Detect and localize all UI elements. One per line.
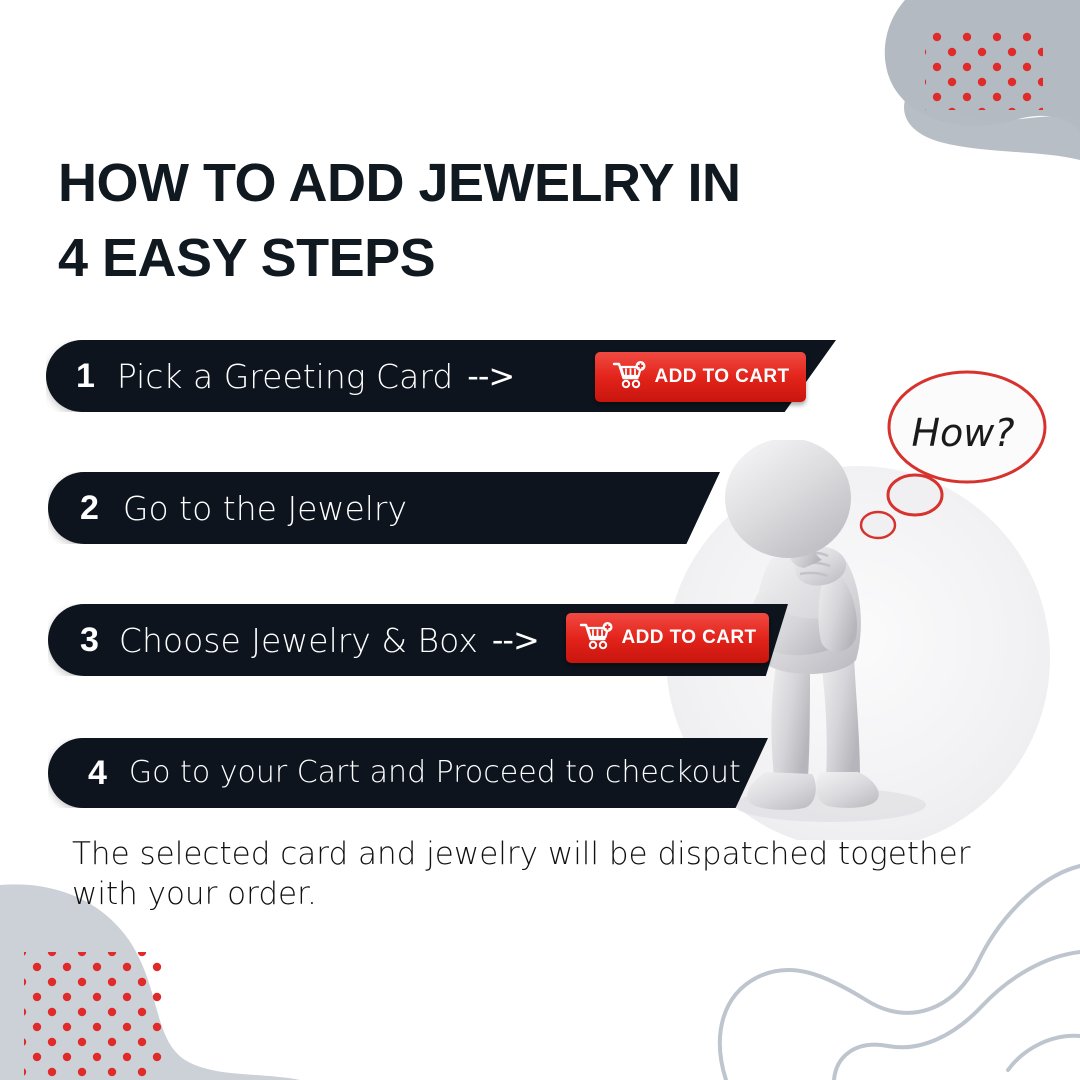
step-label-1: Pick a Greeting Card [117,360,453,393]
thought-bubble-text: How? [893,411,1033,455]
step-number-3: 3 [80,623,99,657]
add-to-cart-button-step-3[interactable]: ADD TO CART [566,613,769,663]
step-number-2: 2 [80,491,99,525]
add-to-cart-label-1: ADD TO CART [655,366,790,388]
page-title: HOW TO ADD JEWELRY IN 4 EASY STEPS [58,146,741,295]
shopping-cart-plus-icon [612,361,646,394]
step-arrow-1: --> [467,360,514,392]
add-to-cart-label-2: ADD TO CART [622,627,757,649]
step-item-4: 4 Go to your Cart and Proceed to checkou… [48,738,768,808]
shopping-cart-plus-icon [579,622,613,655]
step-item-2: 2 Go to the Jewelry [48,472,720,544]
title-line-1: HOW TO ADD JEWELRY IN [58,146,741,221]
step-label-4: Go to your Cart and Proceed to checkout [129,758,741,788]
add-to-cart-button-step-1[interactable]: ADD TO CART [595,352,806,402]
footer-note: The selected card and jewelry will be di… [72,834,1002,915]
step-label-2: Go to the Jewelry [123,492,407,525]
title-line-2: 4 EASY STEPS [58,221,741,296]
step-number-1: 1 [76,359,95,393]
step-arrow-3: --> [492,624,539,656]
step-label-3: Choose Jewelry & Box [119,624,478,657]
step-number-4: 4 [88,756,107,790]
thought-bubble: How? [845,355,1080,565]
